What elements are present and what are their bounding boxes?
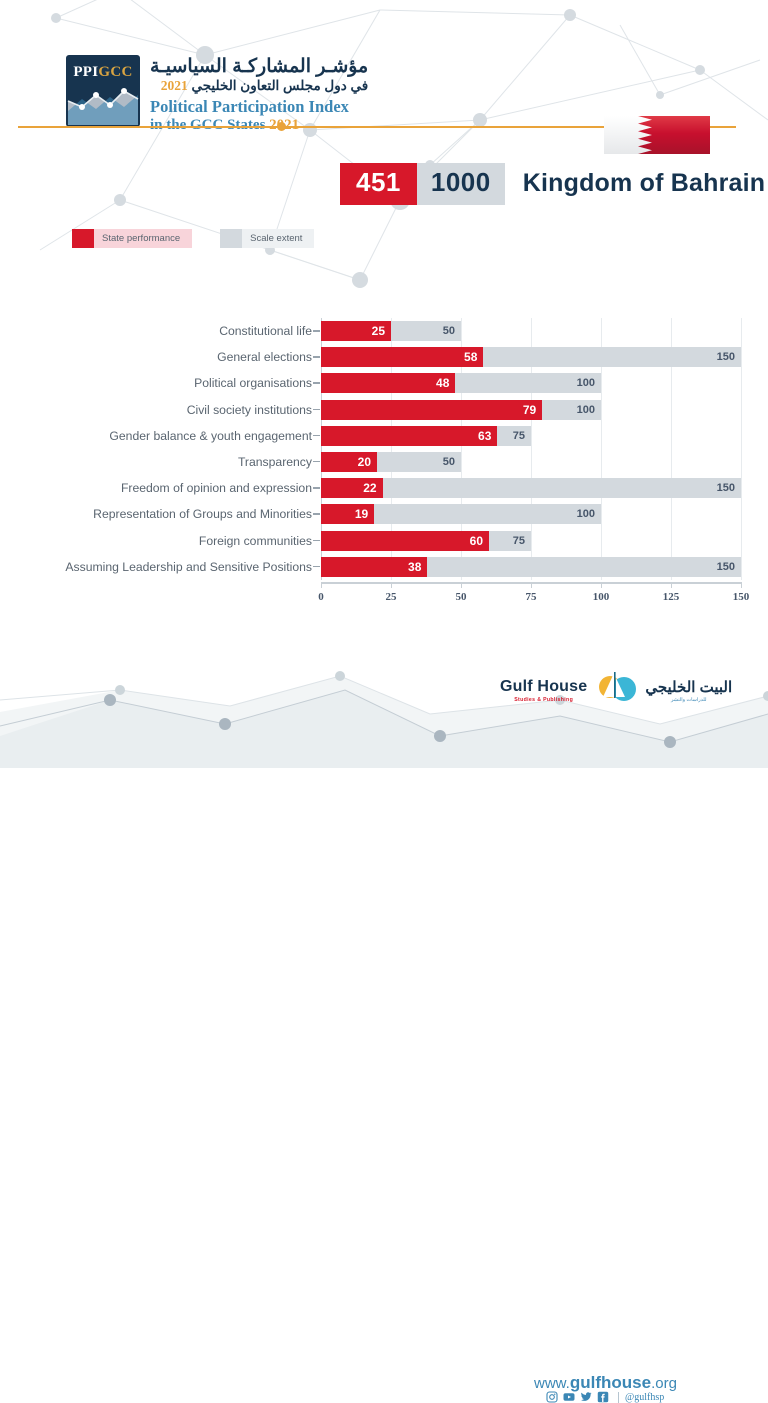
- legend-swatch-red: [72, 229, 94, 248]
- infographic-page: PPIGCC مؤشـر المشاركـة السياسيـة في دول …: [0, 0, 768, 768]
- x-axis-tick: [321, 582, 322, 588]
- legend-label-scale-extent: Scale extent: [242, 229, 314, 248]
- title-arabic-line1: مؤشـر المشاركـة السياسيـة: [150, 57, 368, 77]
- youtube-icon[interactable]: [563, 1391, 575, 1403]
- bar-value-scale: 100: [571, 400, 595, 420]
- category-tick: [313, 330, 320, 332]
- social-links: @gulfhsp: [546, 1391, 664, 1403]
- bar-group: 79100: [321, 397, 768, 423]
- bar-value-scale: 150: [711, 557, 735, 577]
- brand-sub-english: Studies & Publishing: [500, 697, 587, 703]
- bar-chart: Constitutional life2550General elections…: [0, 318, 768, 618]
- bar-value-performance: 48: [425, 373, 449, 393]
- category-label: Freedom of opinion and expression: [121, 475, 312, 501]
- bar-group: 58150: [321, 344, 768, 370]
- footer: Gulf House Studies & Publishing البيت ال…: [0, 665, 768, 768]
- x-axis-tick: [741, 582, 742, 588]
- chart-row[interactable]: Political organisations48100: [0, 370, 768, 396]
- bar-group: 22150: [321, 475, 768, 501]
- bar-value-scale: 150: [711, 478, 735, 498]
- legend-swatch-grey: [220, 229, 242, 248]
- x-axis-label: 75: [526, 591, 537, 603]
- category-label: Constitutional life: [219, 318, 312, 344]
- bar-value-scale: 150: [711, 347, 735, 367]
- category-label: General elections: [217, 344, 312, 370]
- bar-value-scale: 75: [501, 531, 525, 551]
- x-axis-tick: [671, 582, 672, 588]
- dhow-boat-icon: [591, 670, 641, 712]
- title-english-line2: in the GCC States 2021: [150, 117, 368, 134]
- instagram-icon[interactable]: [546, 1391, 558, 1403]
- category-tick: [313, 435, 320, 437]
- x-axis-label: 125: [663, 591, 680, 603]
- x-axis-tick: [461, 582, 462, 588]
- category-tick: [313, 461, 320, 463]
- x-axis-label: 50: [456, 591, 467, 603]
- title-arabic-line2-text: في دول مجلس التعاون الخليجي: [191, 78, 368, 93]
- x-axis-label: 150: [733, 591, 750, 603]
- title-english-line1: Political Participation Index: [150, 98, 368, 116]
- bar-value-scale: 75: [501, 426, 525, 446]
- score-badge: 451 1000 Kingdom of Bahrain: [340, 163, 765, 205]
- bar-scale-extent[interactable]: [321, 478, 741, 498]
- legend-item-state-performance[interactable]: State performance: [72, 229, 192, 248]
- x-axis: 0255075100125150: [321, 582, 741, 612]
- bar-value-performance: 20: [347, 452, 371, 472]
- bar-value-performance: 58: [453, 347, 477, 367]
- bahrain-flag-icon: [604, 114, 710, 156]
- bar-value-performance: 22: [353, 478, 377, 498]
- bar-value-scale: 100: [571, 373, 595, 393]
- category-tick: [313, 566, 320, 568]
- bar-group: 48100: [321, 370, 768, 396]
- category-label: Civil society institutions: [187, 397, 312, 423]
- category-tick: [313, 540, 320, 542]
- bar-value-performance: 38: [397, 557, 421, 577]
- chart-row[interactable]: Freedom of opinion and expression22150: [0, 475, 768, 501]
- bar-value-performance: 63: [467, 426, 491, 446]
- bar-value-performance: 60: [459, 531, 483, 551]
- social-handle: @gulfhsp: [618, 1392, 664, 1403]
- category-tick: [313, 513, 320, 515]
- chart-row[interactable]: Constitutional life2550: [0, 318, 768, 344]
- x-axis-tick: [531, 582, 532, 588]
- x-axis-label: 100: [593, 591, 610, 603]
- bar-group: 2050: [321, 449, 768, 475]
- gold-divider-dot: [277, 122, 286, 131]
- title-block: مؤشـر المشاركـة السياسيـة في دول مجلس ال…: [150, 55, 368, 133]
- chart-row[interactable]: Assuming Leadership and Sensitive Positi…: [0, 554, 768, 580]
- url-main: gulfhouse: [570, 1373, 651, 1392]
- brand-name-arabic: البيت الخليجي: [645, 680, 732, 695]
- x-axis-tick: [391, 582, 392, 588]
- x-axis-label: 0: [318, 591, 324, 603]
- header: PPIGCC مؤشـر المشاركـة السياسيـة في دول …: [0, 0, 768, 150]
- website-url[interactable]: www.gulfhouse.org: [534, 1373, 677, 1393]
- chart-row[interactable]: Transparency2050: [0, 449, 768, 475]
- bar-group: 38150: [321, 554, 768, 580]
- bar-group: 19100: [321, 501, 768, 527]
- bar-value-scale: 50: [431, 452, 455, 472]
- category-label: Assuming Leadership and Sensitive Positi…: [65, 554, 312, 580]
- category-label: Transparency: [238, 449, 312, 475]
- score-max: 1000: [417, 163, 505, 205]
- category-label: Representation of Groups and Minorities: [93, 501, 312, 527]
- score-value: 451: [340, 163, 417, 205]
- url-prefix: www.: [534, 1375, 570, 1392]
- category-tick: [313, 487, 320, 489]
- country-name: Kingdom of Bahrain: [523, 169, 765, 198]
- x-axis-label: 25: [386, 591, 397, 603]
- bar-value-performance: 25: [361, 321, 385, 341]
- bar-value-scale: 100: [571, 504, 595, 524]
- title-english-line2-text: in the GCC States: [150, 117, 265, 133]
- chart-rows: Constitutional life2550General elections…: [0, 318, 768, 580]
- category-label: Gender balance & youth engagement: [109, 423, 312, 449]
- legend-label-state-performance: State performance: [94, 229, 192, 248]
- facebook-icon[interactable]: [597, 1391, 609, 1403]
- category-tick: [313, 382, 320, 384]
- title-arabic-year: 2021: [161, 78, 188, 93]
- twitter-icon[interactable]: [580, 1391, 592, 1403]
- bar-group: 6075: [321, 528, 768, 554]
- brand-logo-block: PPIGCC مؤشـر المشاركـة السياسيـة في دول …: [66, 55, 368, 133]
- ppi-gcc-logo-icon: PPIGCC: [66, 55, 140, 127]
- gulf-house-logo: Gulf House Studies & Publishing البيت ال…: [500, 670, 732, 712]
- bar-value-scale: 50: [431, 321, 455, 341]
- brand-name-english: Gulf House: [500, 679, 587, 695]
- chart-row[interactable]: Representation of Groups and Minorities1…: [0, 501, 768, 527]
- legend-item-scale-extent[interactable]: Scale extent: [220, 229, 314, 248]
- category-tick: [313, 409, 320, 411]
- bar-value-performance: 79: [512, 400, 536, 420]
- category-label: Political organisations: [194, 370, 312, 396]
- chart-legend: State performance Scale extent: [72, 229, 314, 248]
- bar-value-performance: 19: [344, 504, 368, 524]
- category-label: Foreign communities: [199, 528, 312, 554]
- bar-group: 2550: [321, 318, 768, 344]
- chart-row[interactable]: Civil society institutions79100: [0, 397, 768, 423]
- title-arabic-line2: في دول مجلس التعاون الخليجي 2021: [150, 79, 368, 93]
- chart-row[interactable]: Foreign communities6075: [0, 528, 768, 554]
- x-axis-tick: [601, 582, 602, 588]
- category-tick: [313, 356, 320, 358]
- bar-state-performance[interactable]: [321, 400, 542, 420]
- brand-sub-arabic: للدراسات والنشر: [645, 697, 732, 703]
- chart-row[interactable]: General elections58150: [0, 344, 768, 370]
- bar-group: 6375: [321, 423, 768, 449]
- chart-row[interactable]: Gender balance & youth engagement6375: [0, 423, 768, 449]
- url-suffix: .org: [651, 1375, 677, 1392]
